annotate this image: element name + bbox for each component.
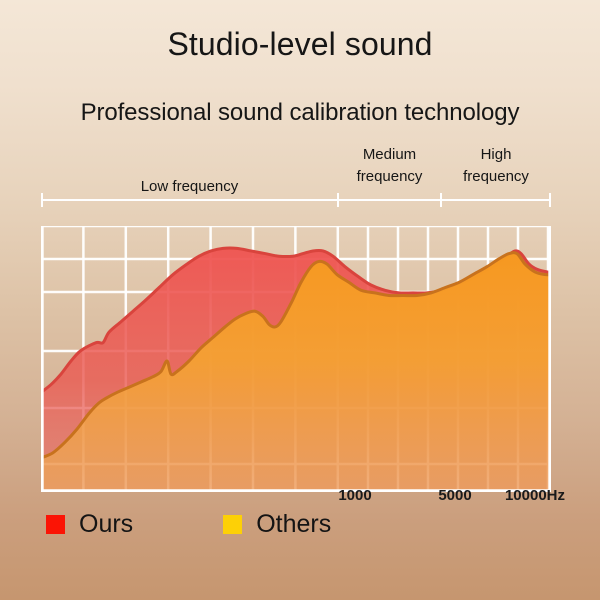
page-subtitle: Professional sound calibration technolog… bbox=[0, 99, 600, 127]
frequency-band-ruler bbox=[41, 193, 551, 207]
ruler-bar bbox=[41, 199, 551, 201]
band-label-medium-line2: frequency bbox=[338, 166, 441, 188]
legend-item-ours[interactable]: Ours bbox=[46, 512, 133, 537]
chart-legend: Ours Others bbox=[46, 512, 331, 537]
legend-swatch-others bbox=[223, 515, 242, 534]
ruler-tick-medium-high bbox=[440, 193, 442, 207]
legend-item-others[interactable]: Others bbox=[223, 512, 331, 537]
chart-series-layer bbox=[41, 248, 551, 492]
legend-label-others: Others bbox=[256, 512, 331, 537]
page-title: Studio-level sound bbox=[0, 26, 600, 63]
band-label-high-line2: frequency bbox=[441, 166, 551, 188]
x-tick-label-5000: 5000 bbox=[410, 487, 500, 504]
frequency-response-chart bbox=[41, 226, 551, 492]
band-label-medium-frequency: Medium frequency bbox=[338, 144, 441, 188]
ruler-tick-low-medium bbox=[337, 193, 339, 207]
legend-label-ours: Ours bbox=[79, 512, 133, 537]
legend-swatch-ours bbox=[46, 515, 65, 534]
chart-svg bbox=[41, 226, 551, 492]
ruler-tick-start bbox=[41, 193, 43, 207]
x-tick-label-1000: 1000 bbox=[310, 487, 400, 504]
x-tick-label-10000: 10000Hz bbox=[490, 487, 580, 504]
poster-canvas: Studio-level sound Professional sound ca… bbox=[0, 0, 600, 600]
band-label-high-frequency: High frequency bbox=[441, 144, 551, 188]
band-label-medium-line1: Medium bbox=[338, 144, 441, 166]
band-label-high-line1: High bbox=[441, 144, 551, 166]
ruler-tick-end bbox=[549, 193, 551, 207]
